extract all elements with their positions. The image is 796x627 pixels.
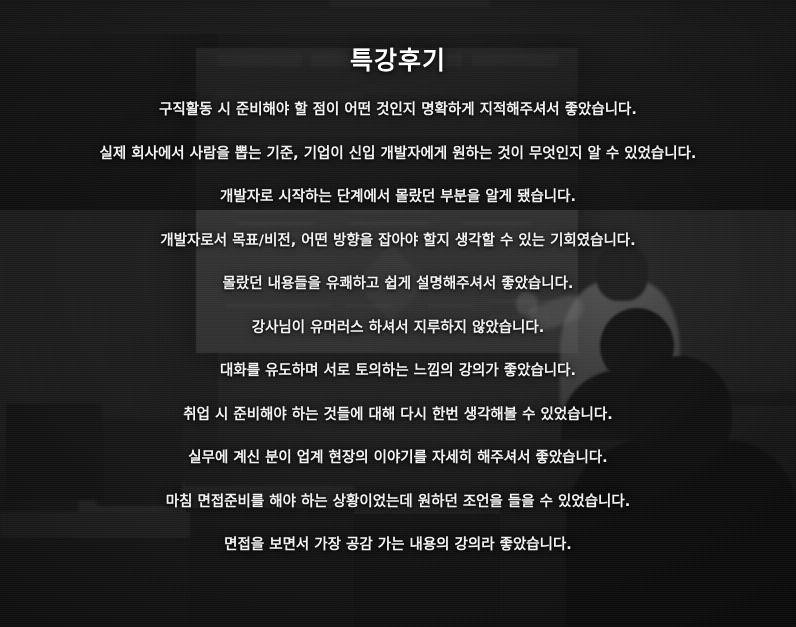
review-line: 마침 면접준비를 해야 하는 상황이었는데 원하던 조언을 들을 수 있었습니다… <box>166 495 630 510</box>
review-line: 강사님이 유머러스 하셔서 지루하지 않았습니다. <box>252 321 545 336</box>
review-line: 취업 시 준비해야 하는 것들에 대해 다시 한번 생각해볼 수 있었습니다. <box>183 408 613 423</box>
review-line: 실제 회사에서 사람을 뽑는 기준, 기업이 신입 개발자에게 원하는 것이 무… <box>100 147 697 162</box>
review-line: 대화를 유도하며 서로 토의하는 느낌의 강의가 좋았습니다. <box>220 364 576 379</box>
review-line: 개발자로 시작하는 단계에서 몰랐던 부분을 알게 됐습니다. <box>220 190 576 205</box>
review-line: 면접을 보면서 가장 공감 가는 내용의 강의라 좋았습니다. <box>224 538 572 553</box>
review-line: 실무에 계신 분이 업계 현장의 이야기를 자세히 해주셔서 좋았습니다. <box>188 451 607 466</box>
review-line: 개발자로서 목표/비전, 어떤 방향을 잡아야 할지 생각할 수 있는 기회였습… <box>160 234 635 249</box>
review-line: 몰랐던 내용들을 유쾌하고 쉽게 설명해주셔서 좋았습니다. <box>223 277 574 292</box>
review-list: 구직활동 시 준비해야 할 점이 어떤 것인지 명확하게 지적해주셔서 좋았습니… <box>0 103 796 553</box>
review-content: 특강후기 구직활동 시 준비해야 할 점이 어떤 것인지 명확하게 지적해주셔서… <box>0 0 796 627</box>
page-title: 특강후기 <box>350 41 446 77</box>
review-line: 구직활동 시 준비해야 할 점이 어떤 것인지 명확하게 지적해주셔서 좋았습니… <box>159 103 637 118</box>
special-lecture-review-page: 특강후기 구직활동 시 준비해야 할 점이 어떤 것인지 명확하게 지적해주셔서… <box>0 0 796 627</box>
